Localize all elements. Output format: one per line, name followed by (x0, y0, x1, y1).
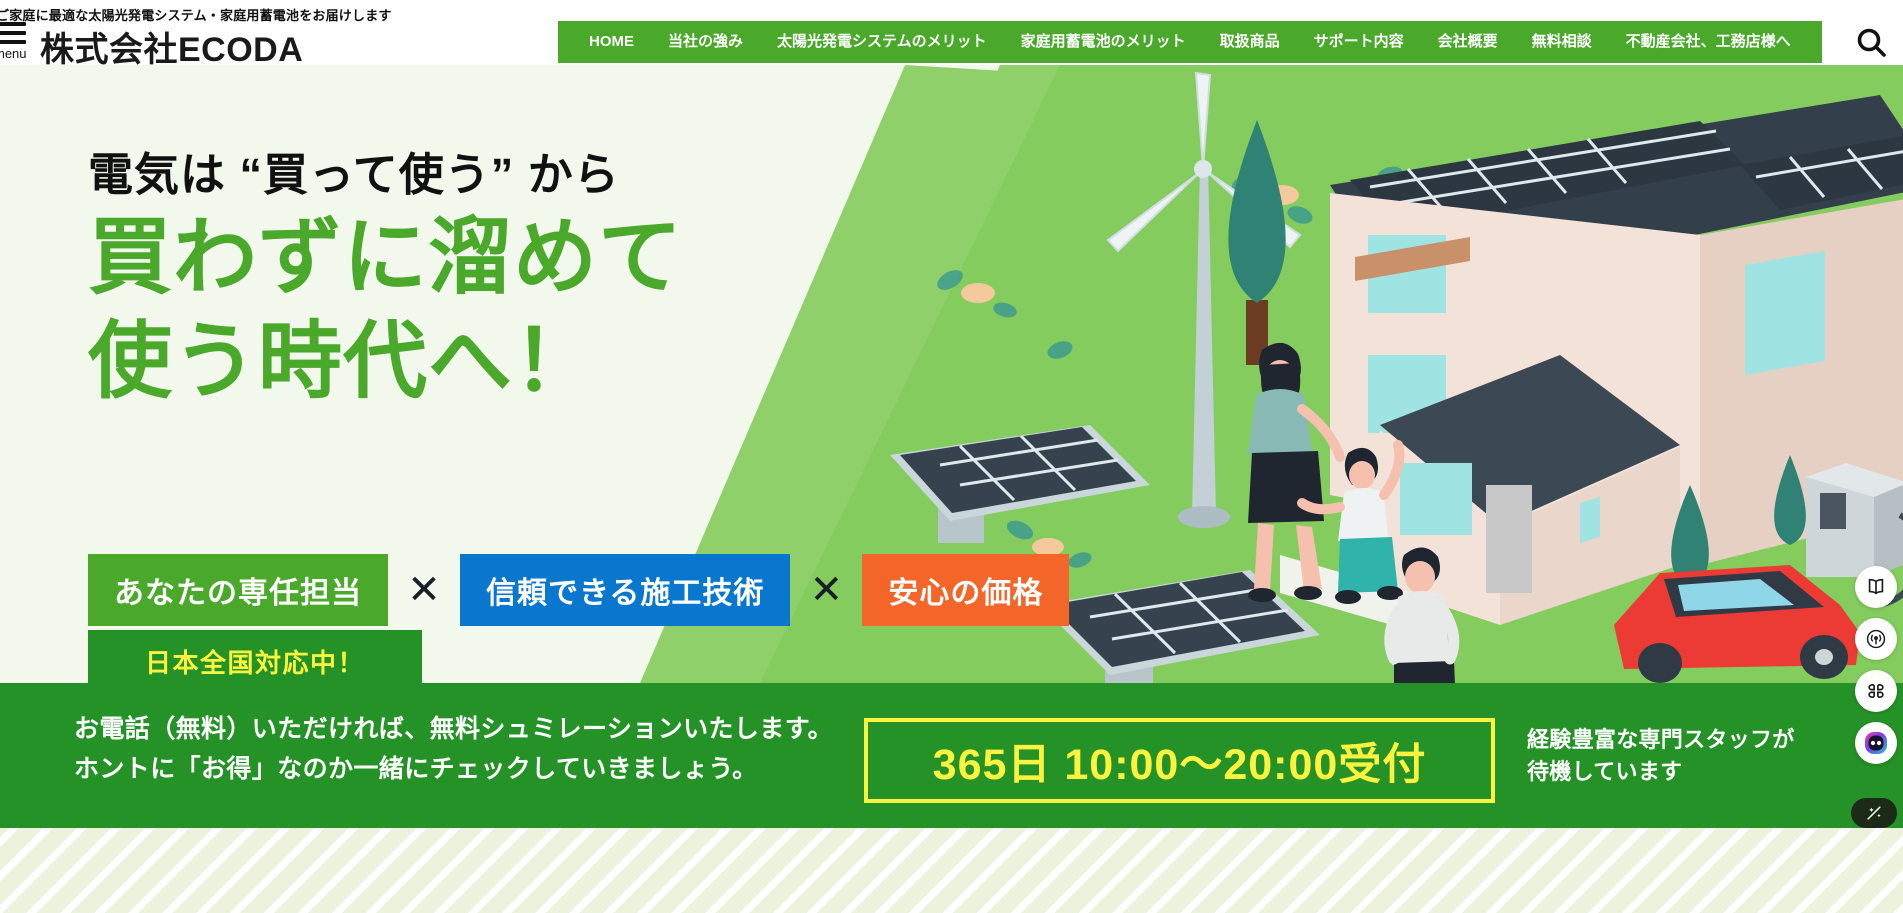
nav-item-strengths[interactable]: 当社の強み (651, 21, 760, 63)
contact-band-line2: ホントに「お得」なのか一緒にチェックしていきましょう。 (74, 749, 833, 789)
nav-item-free-consult[interactable]: 無料相談 (1515, 21, 1609, 63)
main-navigation: HOME 当社の強み 太陽光発電システムのメリット 家庭用蓄電池のメリット 取扱… (558, 21, 1822, 63)
multiply-icon-1: ✕ (388, 570, 460, 610)
hero-headline-line2: 使う時代へ！ (88, 314, 683, 408)
multiply-icon-2: ✕ (790, 570, 862, 610)
hero-headline-small: 電気は “買って使う” から (88, 150, 683, 200)
badge-price: 安心の価格 (862, 554, 1069, 626)
nav-item-home[interactable]: HOME (572, 21, 651, 63)
page-root: ご家庭に最適な太陽光発電システム・家庭用蓄電池をお届けします menu 株式会社… (0, 0, 1903, 913)
nav-item-battery-merit[interactable]: 家庭用蓄電池のメリット (1004, 21, 1203, 63)
contact-band-line1: お電話（無料）いただければ、無料シュミレーションいたします。 (74, 709, 833, 749)
hero-headline-line1: 買わずに溜めて (88, 210, 683, 304)
business-hours-box: 365日 10:00〜20:00受付 (864, 718, 1495, 803)
hamburger-menu-label: menu (0, 46, 27, 61)
hatched-footer-strip (0, 828, 1903, 913)
staff-note-line2: 待機しています (1527, 756, 1795, 788)
badge-dedicated-staff: あなたの専任担当 (88, 554, 388, 626)
hamburger-bar (0, 22, 26, 26)
nav-item-company[interactable]: 会社概要 (1421, 21, 1515, 63)
magic-wand-icon[interactable] (1851, 798, 1897, 828)
staff-note: 経験豊富な専門スタッフが 待機しています (1527, 724, 1795, 788)
broadcast-icon[interactable] (1855, 618, 1897, 660)
floating-widget-rail (1855, 566, 1897, 764)
contact-band-text: お電話（無料）いただければ、無料シュミレーションいたします。 ホントに「お得」な… (74, 709, 833, 789)
nav-item-products[interactable]: 取扱商品 (1203, 21, 1297, 63)
site-logo[interactable]: 株式会社ECODA (40, 22, 303, 71)
hero-copy: 電気は “買って使う” から 買わずに溜めて 使う時代へ！ (88, 150, 683, 408)
assistant-face-icon[interactable] (1855, 722, 1897, 764)
hamburger-bar (0, 31, 26, 35)
nav-item-solar-merit[interactable]: 太陽光発電システムのメリット (760, 21, 1004, 63)
hamburger-bar (0, 40, 26, 44)
nationwide-label: 日本全国対応中！ (145, 643, 365, 680)
grid-apps-icon[interactable] (1855, 670, 1897, 712)
badge-construction-tech: 信頼できる施工技術 (460, 554, 790, 626)
nav-item-support[interactable]: サポート内容 (1297, 21, 1421, 63)
staff-note-line1: 経験豊富な専門スタッフが (1527, 724, 1795, 756)
book-icon[interactable] (1855, 566, 1897, 608)
hamburger-menu-icon[interactable]: menu (0, 21, 30, 55)
search-icon[interactable] (1855, 26, 1889, 60)
business-hours-label: 365日 10:00〜20:00受付 (933, 730, 1427, 792)
nav-item-partners[interactable]: 不動産会社、工務店様へ (1609, 21, 1808, 63)
hero-badge-row: あなたの専任担当 ✕ 信頼できる施工技術 ✕ 安心の価格 (88, 554, 1069, 626)
hero-section: 電気は “買って使う” から 買わずに溜めて 使う時代へ！ あなたの専任担当 ✕… (0, 65, 1903, 683)
